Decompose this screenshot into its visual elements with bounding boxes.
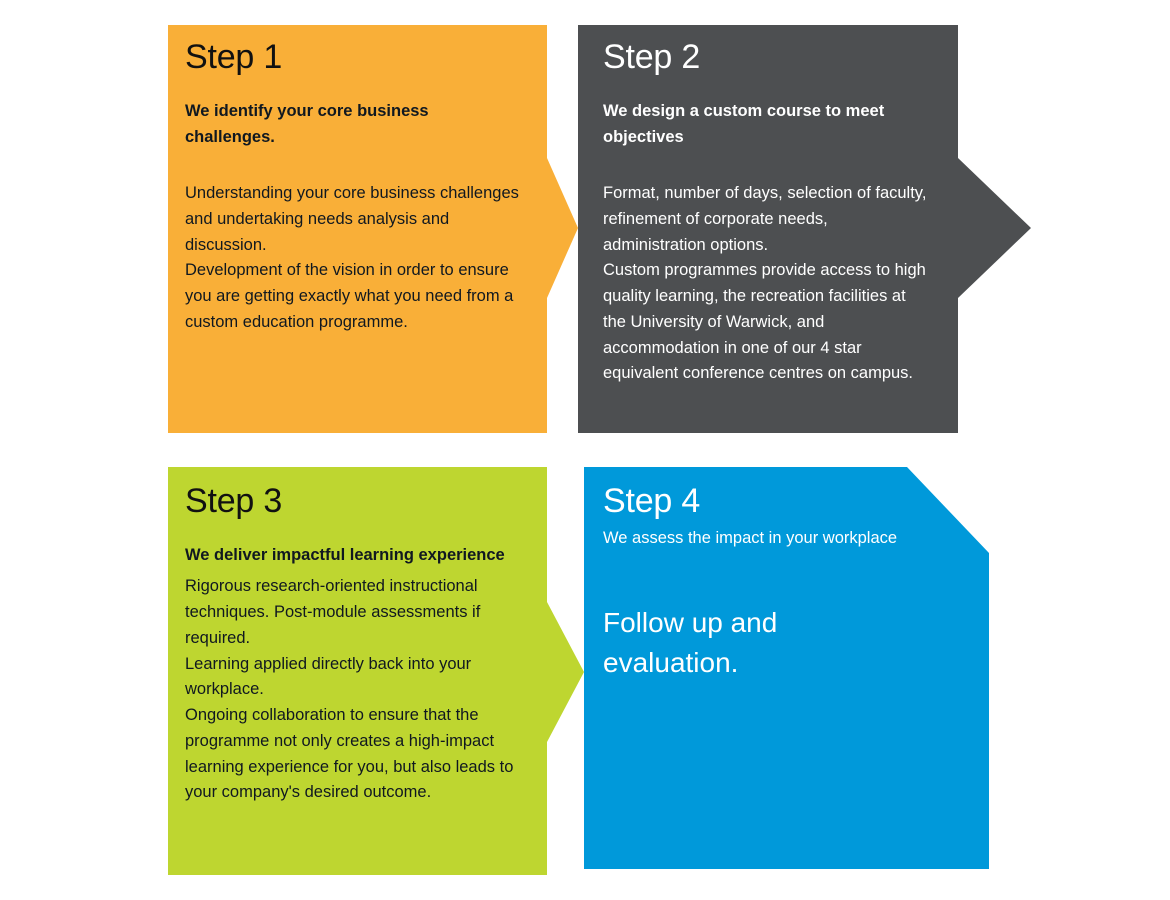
step-2-body: Format, number of days, selection of fac… [603,181,933,387]
spacer [603,151,933,181]
step-4-title: Step 4 [603,484,913,520]
step-2-title: Step 2 [603,40,933,76]
step-1-body: Understanding your core business challen… [185,181,520,335]
four-step-process-diagram: Step 1 We identify your core business ch… [0,0,1170,900]
step-2-content: Step 2 We design a custom course to meet… [603,40,933,387]
step-2-lede: We design a custom course to meet object… [603,98,933,151]
spacer [603,551,913,603]
step-1-lede: We identify your core business challenge… [185,98,520,151]
step-1-title: Step 1 [185,40,520,76]
step-3-content: Step 3 We deliver impactful learning exp… [185,484,525,806]
spacer [185,151,520,181]
step-3-lede: We deliver impactful learning experience [185,542,525,569]
diagram-shape-layer [0,0,1170,900]
step-4-lede: We assess the impact in your workplace [603,526,913,551]
spacer [185,76,520,98]
step-4-content: Step 4 We assess the impact in your work… [603,484,913,682]
step-3-body: Rigorous research-oriented instructional… [185,574,525,806]
step-1-content: Step 1 We identify your core business ch… [185,40,520,336]
spacer [185,520,525,542]
step-3-title: Step 3 [185,484,525,520]
spacer [603,76,933,98]
step-4-headline: Follow up and evaluation. [603,603,913,683]
